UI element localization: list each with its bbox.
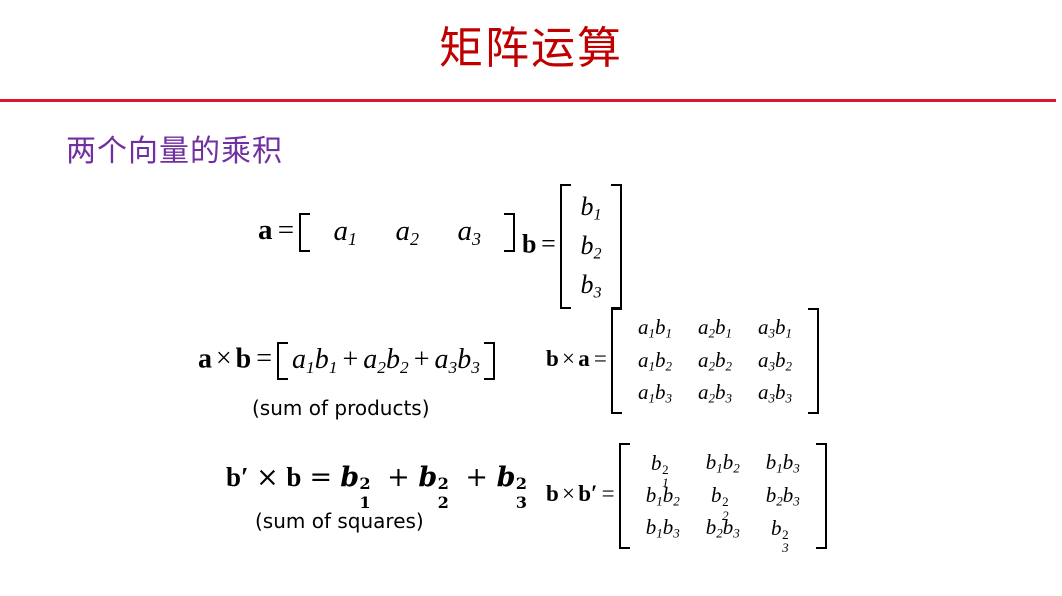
matrix-cell: a1b1: [625, 312, 685, 345]
matrix-cell: a1: [314, 215, 376, 250]
matrix-cell: a2b3: [685, 377, 745, 410]
bracket-content: b21 b1b2 b1b3 b1b2 b22 b2b3 b1b3 b2b3 b2…: [630, 443, 816, 549]
bracket-left-icon: [277, 342, 288, 380]
equation-a-cross-b: a×b= a1b1+a2b2+a3b3: [198, 342, 495, 380]
bracket-group: a1b1 a2b1 a3b1 a1b2 a2b2 a3b2 a1b3 a2b3 …: [611, 308, 819, 414]
caption-sum-of-squares: (sum of squares): [255, 509, 424, 533]
bracket-left-icon: [619, 443, 630, 549]
matrix-cell: b22: [693, 480, 753, 513]
bracket-content: a1b1 a2b1 a3b1 a1b2 a2b2 a3b2 a1b3 a2b3 …: [622, 308, 808, 414]
term-b3-squared: b23: [497, 462, 535, 493]
bracket-content: b1 b2 b3: [571, 184, 610, 309]
cross-operator: ×: [212, 343, 236, 374]
bracket-left-icon: [611, 308, 622, 414]
bracket-right-icon: [808, 308, 819, 414]
matrix-row: a1b2 a2b2 a3b2: [625, 345, 805, 378]
bracket-group: b21 b1b2 b1b3 b1b2 b22 b2b3 b1b3 b2b3 b2…: [619, 443, 827, 549]
matrix-row: a1b1 a2b1 a3b1: [625, 312, 805, 345]
matrix-cell: a1b2: [625, 345, 685, 378]
sum-of-products-expression: a1b1+a2b2+a3b3: [292, 344, 480, 378]
vector-a-label: a: [198, 343, 212, 374]
plus-operator: +: [379, 462, 419, 493]
matrix-cell: b2: [574, 227, 607, 266]
matrix-cell: a1b3: [625, 377, 685, 410]
equation-bprime-cross-b: b′×b=b21+b22+b23: [226, 462, 535, 493]
matrix-cell: b1: [574, 188, 607, 227]
matrix-cell: b1b2: [693, 447, 753, 480]
term-b2-squared: b22: [418, 462, 456, 493]
term-b1-squared: b21: [340, 462, 378, 493]
vector-b-label: b: [286, 462, 301, 492]
matrix-cell: a2: [376, 215, 438, 250]
vector-b-prime-label: b′: [578, 481, 597, 506]
bracket-content: a1b1+a2b2+a3b3: [288, 342, 484, 380]
equals-sign: =: [273, 214, 300, 246]
page-title: 矩阵运算: [0, 26, 1062, 72]
matrix-cell: b21: [633, 447, 693, 480]
bracket-right-icon: [611, 184, 622, 309]
matrix-cell: b3: [574, 266, 607, 305]
matrix-cell: a3b2: [745, 345, 805, 378]
equals-sign: =: [590, 346, 611, 371]
bracket-right-icon: [484, 342, 495, 380]
equation-b-cross-a: b×a= a1b1 a2b1 a3b1 a1b2 a2b2 a3b2 a1b3 …: [546, 308, 819, 414]
vector-b-label: b: [522, 229, 536, 258]
bracket-content: a1 a2 a3: [310, 213, 504, 252]
equals-sign: =: [301, 462, 340, 493]
vector-a-label: a: [258, 214, 273, 246]
vector-b-prime-label: b′: [226, 462, 249, 492]
matrix-row: b1b2 b22 b2b3: [633, 480, 813, 513]
matrix-table: a1b1 a2b1 a3b1 a1b2 a2b2 a3b2 a1b3 a2b3 …: [625, 312, 805, 410]
matrix-cell: a2b2: [685, 345, 745, 378]
matrix-table: b21 b1b2 b1b3 b1b2 b22 b2b3 b1b3 b2b3 b2…: [633, 447, 813, 545]
matrix-cell: a3b1: [745, 312, 805, 345]
equals-sign: =: [536, 229, 560, 258]
matrix-cell: b23: [753, 512, 813, 545]
equals-sign: =: [597, 481, 618, 506]
cross-operator: ×: [559, 346, 578, 371]
matrix-cell: b2b3: [753, 480, 813, 513]
plus-operator: +: [457, 462, 497, 493]
matrix-cell: a3: [438, 215, 500, 250]
bracket-left-icon: [299, 213, 310, 252]
vector-b-label: b: [546, 481, 559, 506]
cross-operator: ×: [559, 481, 578, 506]
vector-b-label: b: [236, 343, 252, 374]
matrix-cell: b1b3: [633, 512, 693, 545]
title-divider: [0, 99, 1056, 102]
bracket-group: b1 b2 b3: [560, 184, 621, 309]
bracket-left-icon: [560, 184, 571, 309]
vector-a-label: a: [578, 346, 590, 371]
bracket-right-icon: [504, 213, 515, 252]
matrix-row: b21 b1b2 b1b3: [633, 447, 813, 480]
bracket-group: a1 a2 a3: [299, 213, 515, 252]
caption-sum-of-products: (sum of products): [252, 396, 430, 420]
cross-operator: ×: [249, 462, 287, 493]
bracket-right-icon: [816, 443, 827, 549]
matrix-cell: a2b1: [685, 312, 745, 345]
matrix-cell: b1b3: [753, 447, 813, 480]
matrix-cell: a3b3: [745, 377, 805, 410]
vector-b-label: b: [546, 346, 559, 371]
equation-row-vector-a: a= a1 a2 a3: [258, 213, 515, 252]
bracket-group: a1b1+a2b2+a3b3: [277, 342, 495, 380]
equation-column-vector-b: b= b1 b2 b3: [522, 184, 622, 309]
section-subtitle: 两个向量的乘积: [66, 126, 283, 170]
vector-row: a1 a2 a3: [314, 215, 500, 250]
equals-sign: =: [251, 343, 277, 374]
matrix-row: a1b3 a2b3 a3b3: [625, 377, 805, 410]
equation-b-cross-bprime: b×b′= b21 b1b2 b1b3 b1b2 b22 b2b3 b1b3 b…: [546, 443, 827, 549]
